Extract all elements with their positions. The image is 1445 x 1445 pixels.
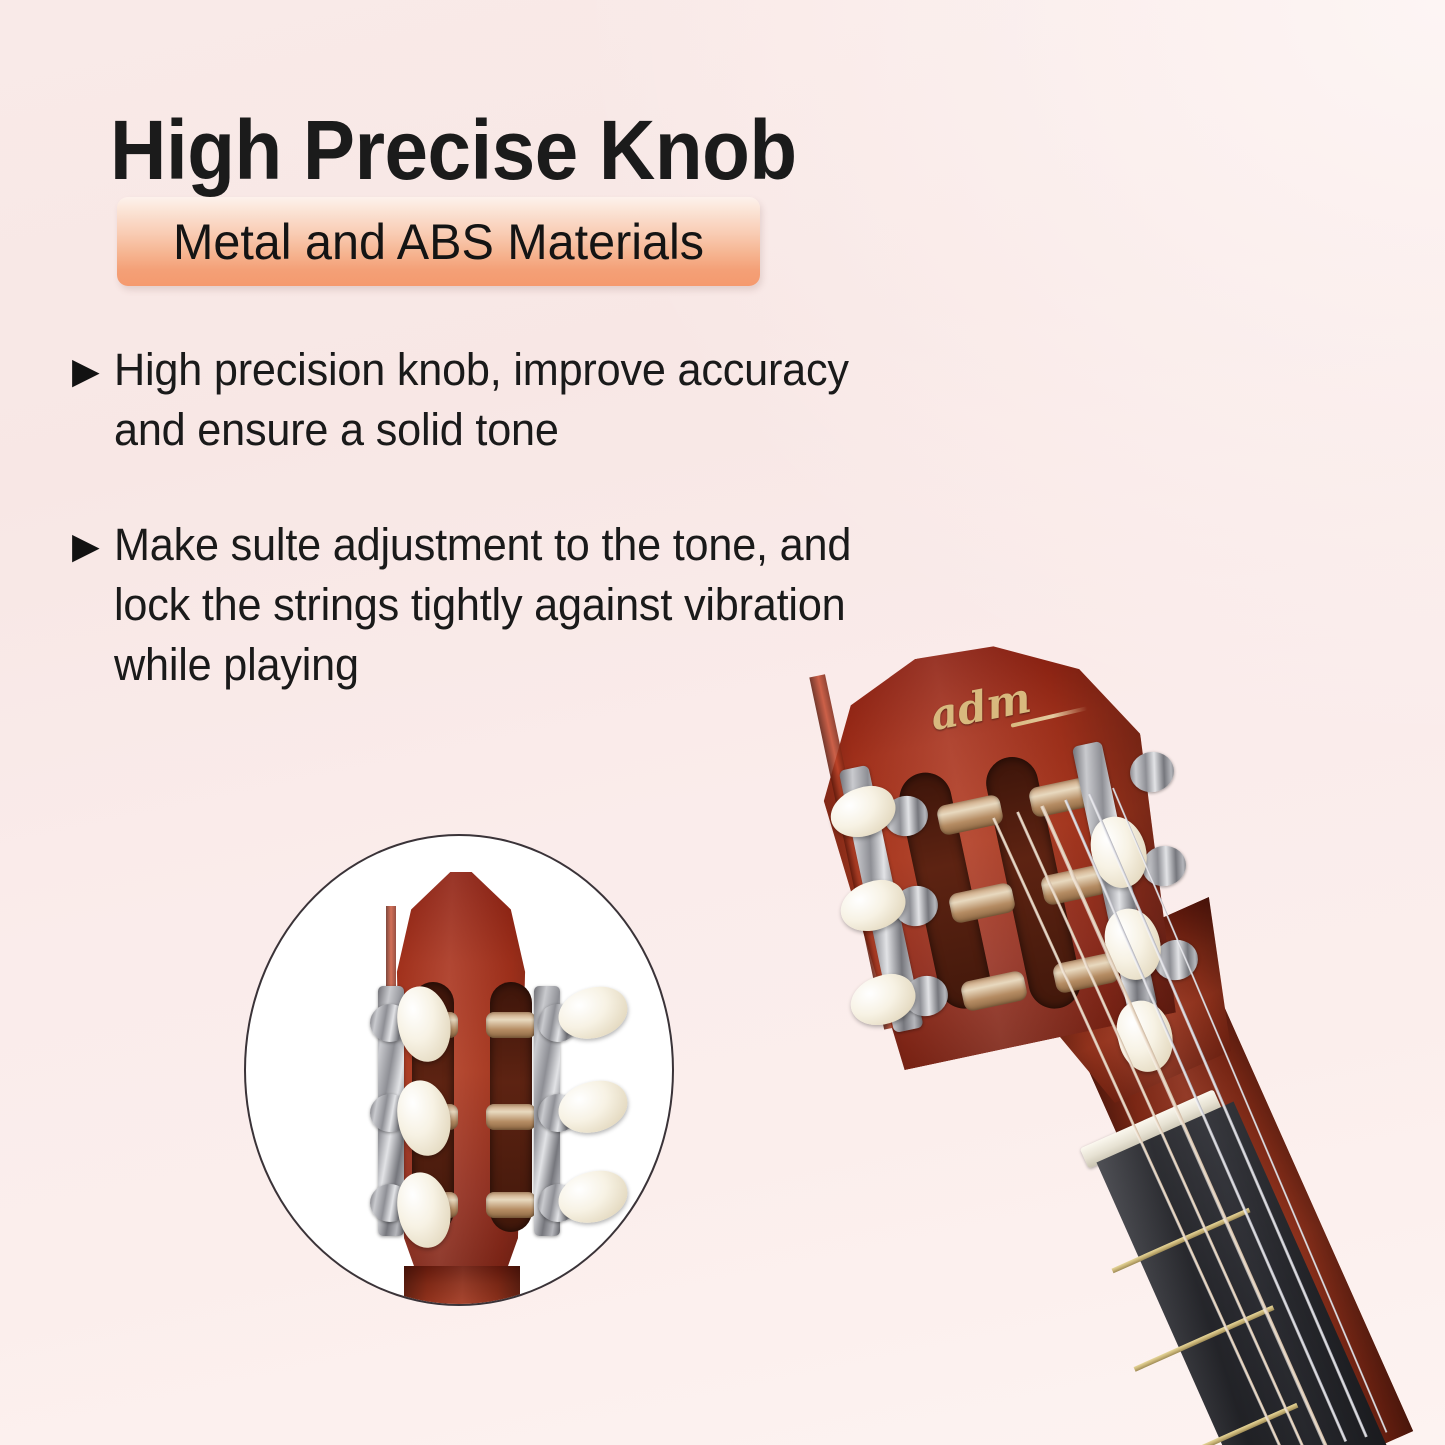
inset-tuner-post-1 <box>408 1012 458 1038</box>
inset-tuner-gear-left-3 <box>370 1184 410 1222</box>
inset-tuner-gear-right-1 <box>538 1004 578 1042</box>
triangle-bullet-icon: ▶ <box>72 340 114 396</box>
inset-headstock-face <box>372 872 550 1288</box>
string-4 <box>1064 799 1347 1442</box>
tuner-gear-left-3 <box>900 972 951 1020</box>
tuner-post-3 <box>960 970 1029 1013</box>
inset-slot-treble <box>490 982 532 1232</box>
inset-tuner-post-2 <box>408 1104 458 1130</box>
tuner-post-5 <box>1040 864 1109 907</box>
inset-tuner-button-left-2 <box>392 1076 456 1160</box>
fret-1 <box>1111 1208 1250 1274</box>
tuner-gear-right-1 <box>1126 748 1177 796</box>
tuner-button-right-3 <box>1110 995 1180 1078</box>
inset-tuner-post-4 <box>486 1012 536 1038</box>
brand-logo-swash <box>1011 706 1088 727</box>
fret-2 <box>1134 1305 1275 1371</box>
tuner-gear-left-2 <box>890 882 941 930</box>
tuner-post-2 <box>948 882 1017 925</box>
inset-tuner-gear-left-2 <box>370 1094 410 1132</box>
tuner-gear-left-1 <box>880 792 931 840</box>
inset-tuner-button-left-1 <box>392 982 456 1066</box>
string-6 <box>1112 788 1387 1433</box>
inset-slot-bass <box>412 982 454 1232</box>
tuner-button-left-3 <box>844 966 922 1034</box>
guitar-fretboard <box>1096 1101 1404 1445</box>
fret-3 <box>1156 1403 1299 1445</box>
inset-tuner-post-3 <box>408 1192 458 1218</box>
headstock-heel <box>1015 897 1270 1120</box>
materials-badge: Metal and ABS Materials <box>117 197 760 286</box>
feature-bullet-text: High precision knob, improve accuracy an… <box>114 340 918 461</box>
inset-tuner-plate-right <box>534 986 560 1236</box>
string-1 <box>992 817 1285 1445</box>
inset-tuner-button-right-3 <box>552 1163 633 1230</box>
tuner-button-left-1 <box>824 778 902 846</box>
materials-badge-label: Metal and ABS Materials <box>127 197 751 286</box>
tuner-button-left-2 <box>834 872 912 940</box>
tuner-plate-left <box>839 765 924 1033</box>
inset-tuner-gear-right-2 <box>538 1094 578 1132</box>
page-title: High Precise Knob <box>110 108 797 194</box>
inset-headstock-bevel <box>386 906 396 1236</box>
inset-tuner-button-right-1 <box>552 979 633 1046</box>
inset-tuner-post-5 <box>486 1104 536 1130</box>
headstock-detail-inset <box>244 834 674 1306</box>
inset-tuner-button-left-3 <box>392 1168 456 1252</box>
guitar-nut <box>1080 1089 1222 1168</box>
tuner-gear-right-3 <box>1150 936 1201 984</box>
tuner-post-6 <box>1052 952 1121 995</box>
string-3 <box>1040 805 1327 1445</box>
guitar-neck <box>1048 919 1413 1445</box>
inset-tuner-gear-left-1 <box>370 1004 410 1042</box>
feature-bullet-list: ▶ High precision knob, improve accuracy … <box>72 340 952 749</box>
inset-tuner-button-right-2 <box>552 1073 633 1140</box>
inset-photo-content <box>246 836 674 1306</box>
tuner-button-right-2 <box>1098 903 1168 986</box>
tuner-button-right-1 <box>1084 811 1154 894</box>
tuner-gear-right-2 <box>1138 842 1189 890</box>
headstock-slot-bass <box>895 768 996 1014</box>
inset-tuner-plate-left <box>378 986 404 1236</box>
string-2 <box>1016 811 1306 1445</box>
triangle-bullet-icon: ▶ <box>72 515 114 571</box>
list-item: ▶ Make sulte adjustment to the tone, and… <box>72 515 952 696</box>
list-item: ▶ High precision knob, improve accuracy … <box>72 340 952 461</box>
feature-bullet-text: Make sulte adjustment to the tone, and l… <box>114 515 918 696</box>
inset-tuner-post-6 <box>486 1192 536 1218</box>
headstock-slot-treble <box>981 752 1085 1013</box>
tuner-post-1 <box>936 794 1005 837</box>
string-5 <box>1088 793 1368 1437</box>
product-infographic: adm <box>0 0 1445 1445</box>
tuner-plate-right <box>1072 741 1158 1013</box>
inset-neck <box>404 1266 520 1306</box>
inset-tuner-gear-right-3 <box>538 1184 578 1222</box>
tuner-post-4 <box>1028 776 1097 819</box>
